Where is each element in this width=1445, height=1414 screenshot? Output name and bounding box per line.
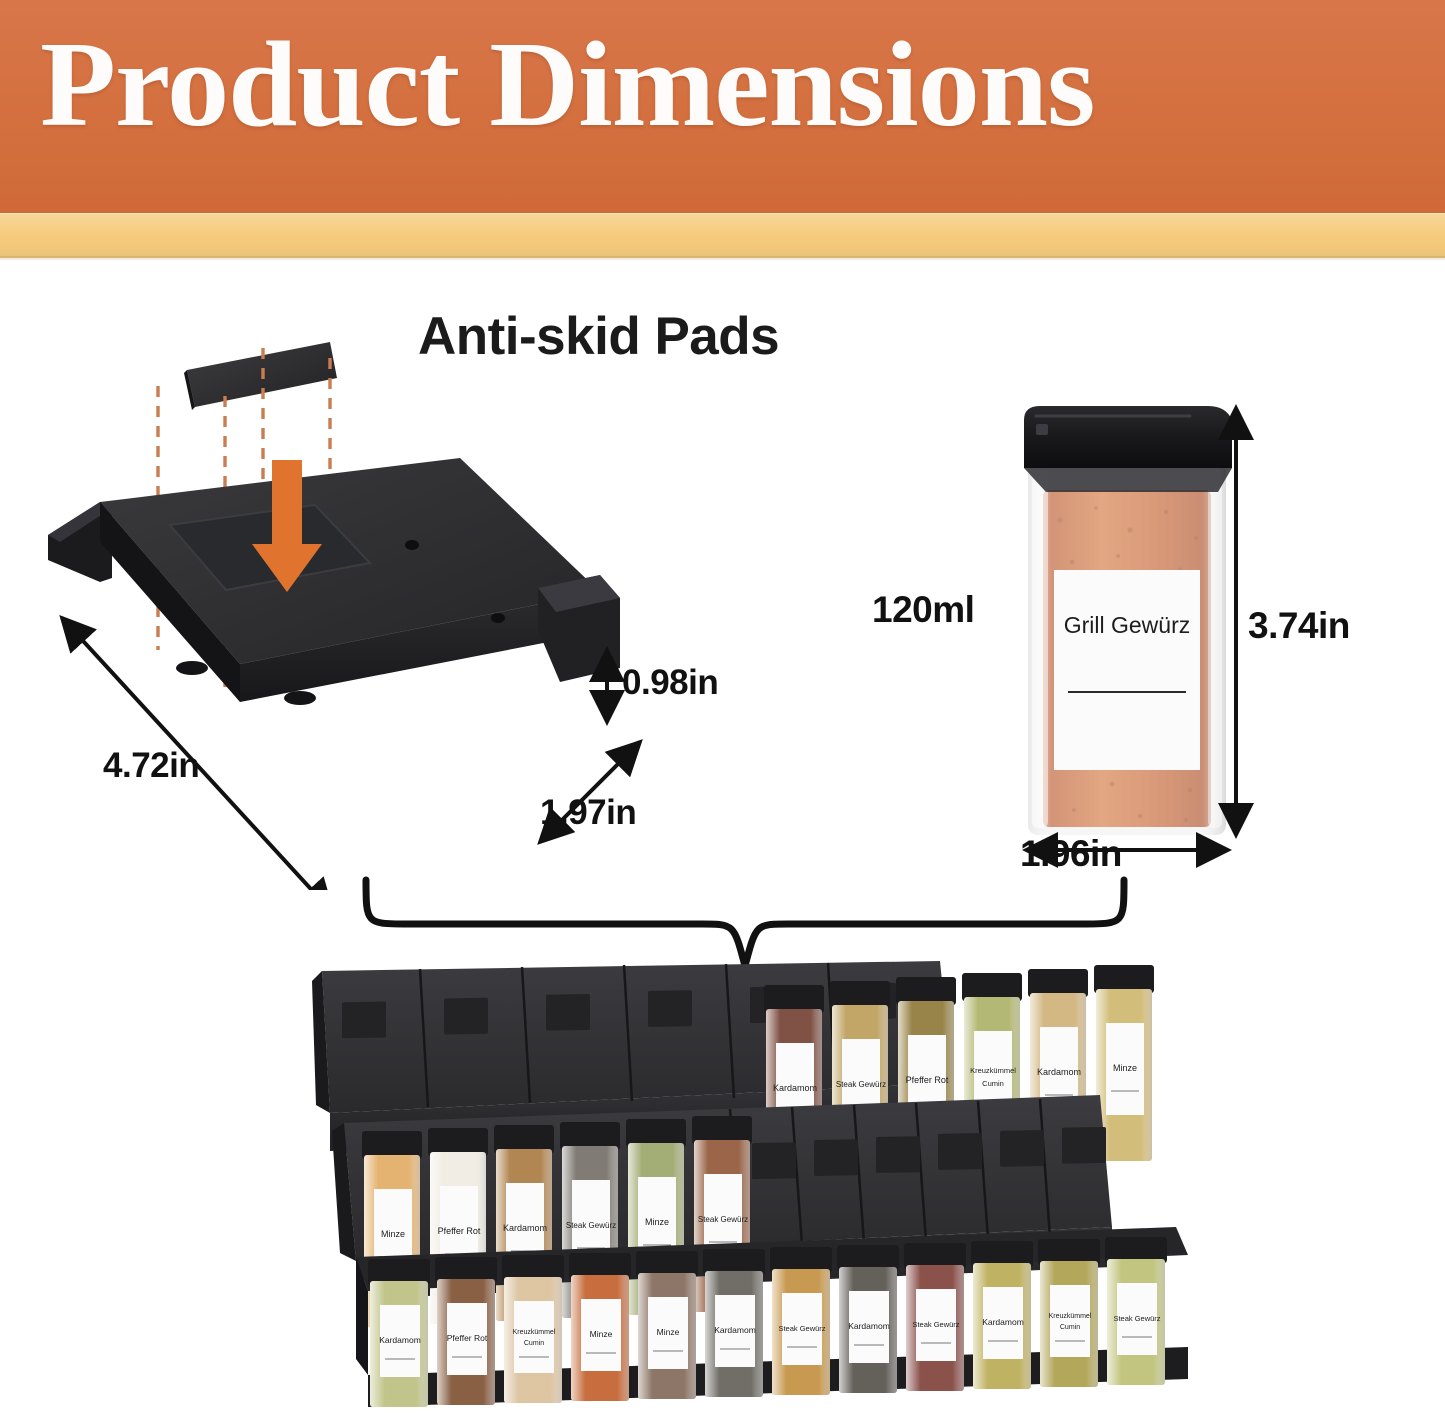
svg-text:Kardamom: Kardamom <box>773 1083 817 1093</box>
svg-text:Kreuzkümmel: Kreuzkümmel <box>513 1329 556 1336</box>
anti-skid-pad <box>184 342 337 410</box>
spice-rack-product-photo: Kardamom Steak Gewürz Pfeffer Rot Kreuzk… <box>300 955 1200 1414</box>
svg-text:Minze: Minze <box>657 1327 680 1337</box>
svg-text:Kreuzkümmel: Kreuzkümmel <box>970 1066 1016 1075</box>
header-accent-shadow <box>0 256 1445 261</box>
svg-text:Pfeffer Rot: Pfeffer Rot <box>906 1075 949 1085</box>
jar: Steak Gewürz <box>1105 1237 1167 1385</box>
jar: Kreuzkümmel Cumin <box>1038 1239 1100 1387</box>
svg-text:Steak Gewürz: Steak Gewürz <box>698 1215 748 1224</box>
header-accent-bar <box>0 213 1445 258</box>
svg-text:Cumin: Cumin <box>1060 1324 1080 1331</box>
svg-text:Cumin: Cumin <box>982 1079 1004 1088</box>
svg-text:Kardamom: Kardamom <box>503 1223 547 1233</box>
svg-text:Minze: Minze <box>645 1217 669 1227</box>
svg-text:Minze: Minze <box>1113 1063 1137 1073</box>
dimension-label-depth: 1.97in <box>540 793 636 833</box>
svg-text:Kardamom: Kardamom <box>714 1325 756 1335</box>
jar: Kreuzkümmel Cumin <box>502 1255 564 1403</box>
jar-label: Grill Gewürz <box>1054 570 1200 770</box>
page-title: Product Dimensions <box>40 24 1445 146</box>
jar: Kardamom <box>837 1245 899 1393</box>
svg-text:Pfeffer Rot: Pfeffer Rot <box>438 1226 481 1236</box>
svg-text:Steak Gewürz: Steak Gewürz <box>912 1320 959 1329</box>
jar: Steak Gewürz <box>904 1243 966 1391</box>
jar: Kardamom <box>971 1241 1033 1389</box>
svg-text:Kardamom: Kardamom <box>1037 1067 1081 1077</box>
svg-text:Minze: Minze <box>381 1229 405 1239</box>
dimension-label-length: 4.72in <box>103 746 199 786</box>
svg-text:Cumin: Cumin <box>524 1340 544 1347</box>
svg-text:Minze: Minze <box>590 1329 613 1339</box>
svg-text:Steak Gewürz: Steak Gewürz <box>836 1080 886 1089</box>
jar: Kardamom <box>703 1249 765 1397</box>
svg-text:Pfeffer Rot: Pfeffer Rot <box>447 1333 488 1343</box>
svg-text:Kardamom: Kardamom <box>848 1321 890 1331</box>
jar-label-name: Grill Gewürz <box>1064 612 1191 638</box>
jar: Pfeffer Rot <box>435 1257 497 1405</box>
jar: Kardamom <box>368 1259 430 1407</box>
jar: Minze <box>569 1253 631 1401</box>
dimension-label-height: 0.98in <box>622 663 718 703</box>
svg-text:Steak Gewürz: Steak Gewürz <box>778 1324 825 1333</box>
svg-text:Kardamom: Kardamom <box>982 1317 1024 1327</box>
dimension-label-jar-height: 3.74in <box>1248 605 1350 647</box>
jar: Minze <box>636 1251 698 1399</box>
svg-text:Steak Gewürz: Steak Gewürz <box>1113 1314 1160 1323</box>
svg-text:Steak Gewürz: Steak Gewürz <box>566 1221 616 1230</box>
spice-rack-tray <box>48 458 620 705</box>
svg-text:Kreuzkümmel: Kreuzkümmel <box>1049 1313 1092 1320</box>
jar: Steak Gewürz <box>770 1247 832 1395</box>
svg-text:Kardamom: Kardamom <box>379 1335 421 1345</box>
jar-lid <box>1024 406 1232 492</box>
jar-capacity-label: 120ml <box>872 589 974 631</box>
